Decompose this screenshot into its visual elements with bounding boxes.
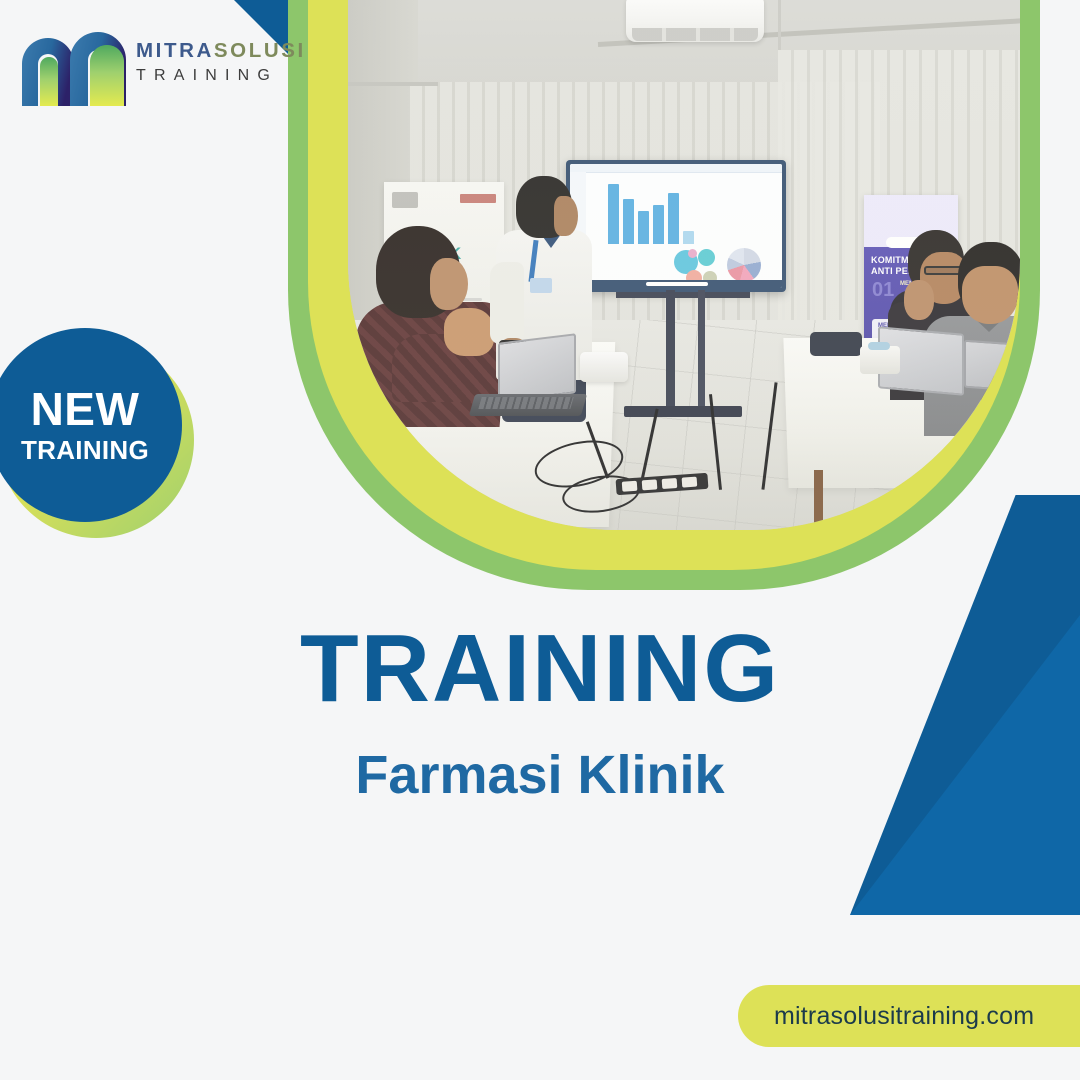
banner-number-01: 01 xyxy=(872,279,894,302)
page-subtitle: Farmasi Klinik xyxy=(0,744,1080,806)
presentation-screen xyxy=(566,160,786,292)
banner-brand-icon xyxy=(460,194,496,203)
laptop-bag xyxy=(810,332,862,356)
air-conditioner-pipe xyxy=(778,0,781,50)
laptop-right-secondary xyxy=(964,340,1020,393)
banner-logo-icon xyxy=(392,192,418,208)
badge-label-new: NEW xyxy=(31,385,140,433)
logo-name-part2: SOLUSI xyxy=(214,39,306,62)
screen-dashboard xyxy=(570,164,782,288)
photo-scene: AKHLAK Core Values Amanah KOMITMEN SAYA … xyxy=(348,0,1020,530)
logo-name-line2: TRAINING xyxy=(136,65,306,87)
new-training-badge[interactable]: NEW TRAINING xyxy=(0,328,202,560)
projector-device xyxy=(580,352,628,382)
training-photo: AKHLAK Core Values Amanah KOMITMEN SAYA … xyxy=(348,0,1020,530)
page-title: TRAINING xyxy=(0,614,1080,724)
mitra-solusi-m-monogram-icon xyxy=(18,28,130,106)
laptop-left xyxy=(498,333,576,403)
logo-wordmark: MITRASOLUSI TRAINING xyxy=(136,40,306,87)
curtain-rail-left xyxy=(348,82,438,86)
air-conditioner-vent xyxy=(632,28,758,41)
poster-canvas: AKHLAK Core Values Amanah KOMITMEN SAYA … xyxy=(0,0,1080,1080)
screen-stand xyxy=(666,290,675,408)
tissue-box xyxy=(860,346,900,374)
website-pill[interactable]: mitrasolusitraining.com xyxy=(738,985,1080,1047)
brand-logo[interactable]: MITRASOLUSI TRAINING xyxy=(18,24,278,112)
website-url: mitrasolusitraining.com xyxy=(774,1002,1034,1031)
logo-name-part1: MITRA xyxy=(136,39,214,62)
badge-label-training: TRAINING xyxy=(21,435,149,465)
